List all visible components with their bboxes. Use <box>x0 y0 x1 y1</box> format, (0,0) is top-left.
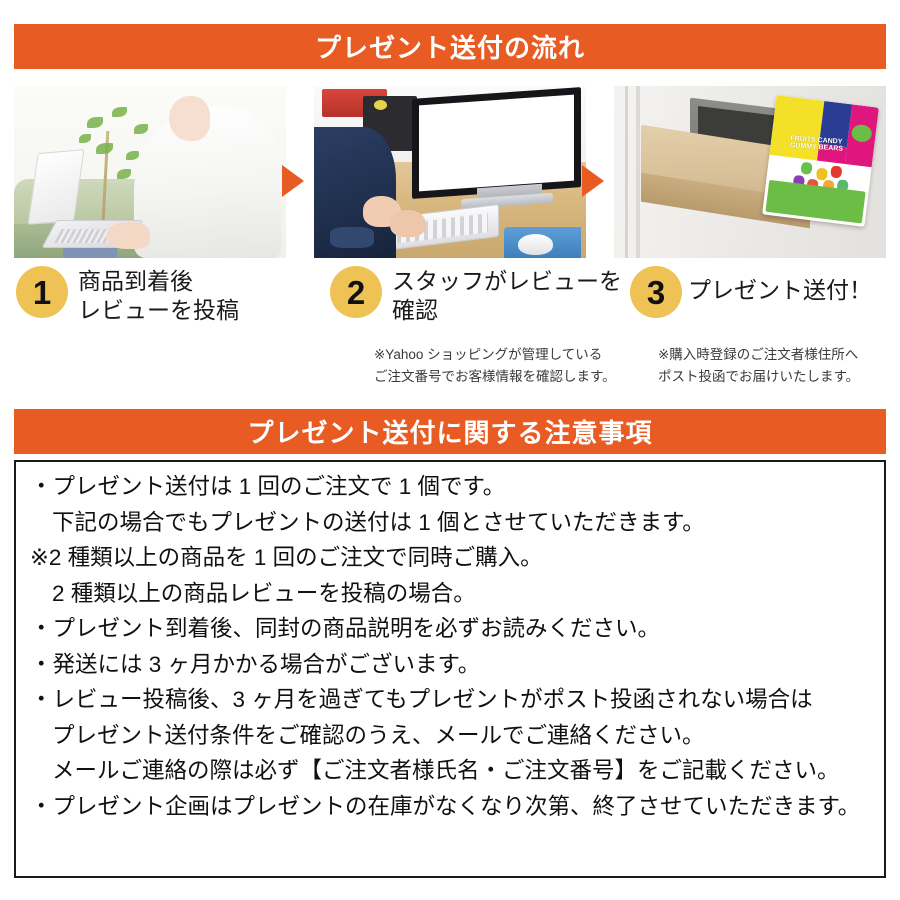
photo1-person-hair <box>183 89 265 185</box>
step-photos-row: FRUITS CANDY GUMMY BEARS <box>14 86 886 258</box>
photo3-door-line <box>625 86 628 258</box>
note-line: ・プレゼント到着後、同封の商品説明を必ずお読みください。 <box>30 618 870 641</box>
banner-flow-title: プレゼント送付の流れ <box>14 24 886 69</box>
step-3: 3 プレゼント送付！ <box>630 266 872 318</box>
photo3-door-line <box>636 86 640 258</box>
note-line: ・レビュー投稿後、3 ヶ月を過ぎてもプレゼントがポスト投函されない場合は <box>30 689 870 712</box>
step-3-photo: FRUITS CANDY GUMMY BEARS <box>614 86 886 258</box>
photo2-hand-right <box>390 210 425 238</box>
note-line: メールご連絡の際は必ず【ご注文者様氏名・ご注文番号】をご記載ください。 <box>30 760 870 783</box>
step-1-photo <box>14 86 286 258</box>
banner-notes-title: プレゼント送付に関する注意事項 <box>14 409 886 454</box>
photo2-mouse <box>518 234 553 255</box>
step-2: 2 スタッフがレビューを 確認 <box>330 266 622 325</box>
step-2-photo <box>314 86 586 258</box>
photo2-monitor <box>412 87 581 199</box>
note-line: プレゼント送付条件をご確認のうえ、メールでご連絡ください。 <box>30 725 870 748</box>
arrow-right-icon <box>582 165 604 197</box>
photo2-shirt-cuff <box>330 227 374 248</box>
photo3-candy-package: FRUITS CANDY GUMMY BEARS <box>762 96 879 228</box>
photo1-hand <box>106 222 150 250</box>
notes-box: ・プレゼント送付は 1 回のご注文で 1 個です。 下記の場合でもプレゼントの送… <box>14 460 886 878</box>
step-1: 1 商品到着後 レビューを投稿 <box>16 266 239 325</box>
step-2-label: スタッフがレビューを 確認 <box>392 266 622 325</box>
banner-notes-text: プレゼント送付に関する注意事項 <box>247 413 652 450</box>
step-2-number-badge: 2 <box>330 266 382 318</box>
note-line: ・プレゼント送付は 1 回のご注文で 1 個です。 <box>30 476 870 499</box>
step-2-subnote: ※Yahoo ショッピングが管理している ご注文番号でお客様情報を確認します。 <box>374 344 616 387</box>
step-3-subnote: ※購入時登録のご注文者様住所へ ポスト投函でお届けいたします。 <box>658 344 859 387</box>
arrow-right-icon <box>282 165 304 197</box>
note-line: 下記の場合でもプレゼントの送付は 1 個とさせていただきます。 <box>30 512 870 535</box>
step-3-number-badge: 3 <box>630 266 682 318</box>
note-line: 2 種類以上の商品レビューを投稿の場合。 <box>30 583 870 606</box>
note-line: ・プレゼント企画はプレゼントの在庫がなくなり次第、終了させていただきます。 <box>30 796 870 819</box>
step-1-label: 商品到着後 レビューを投稿 <box>78 266 239 325</box>
step-1-number-badge: 1 <box>16 266 68 318</box>
promotion-infographic: プレゼント送付の流れ <box>0 0 900 900</box>
note-line: ・発送には 3 ヶ月かかる場合がございます。 <box>30 654 870 677</box>
banner-flow-text: プレゼント送付の流れ <box>315 28 585 65</box>
step-3-label: プレゼント送付！ <box>688 266 872 305</box>
note-line: ※2 種類以上の商品を 1 回のご注文で同時ご購入。 <box>30 547 870 570</box>
